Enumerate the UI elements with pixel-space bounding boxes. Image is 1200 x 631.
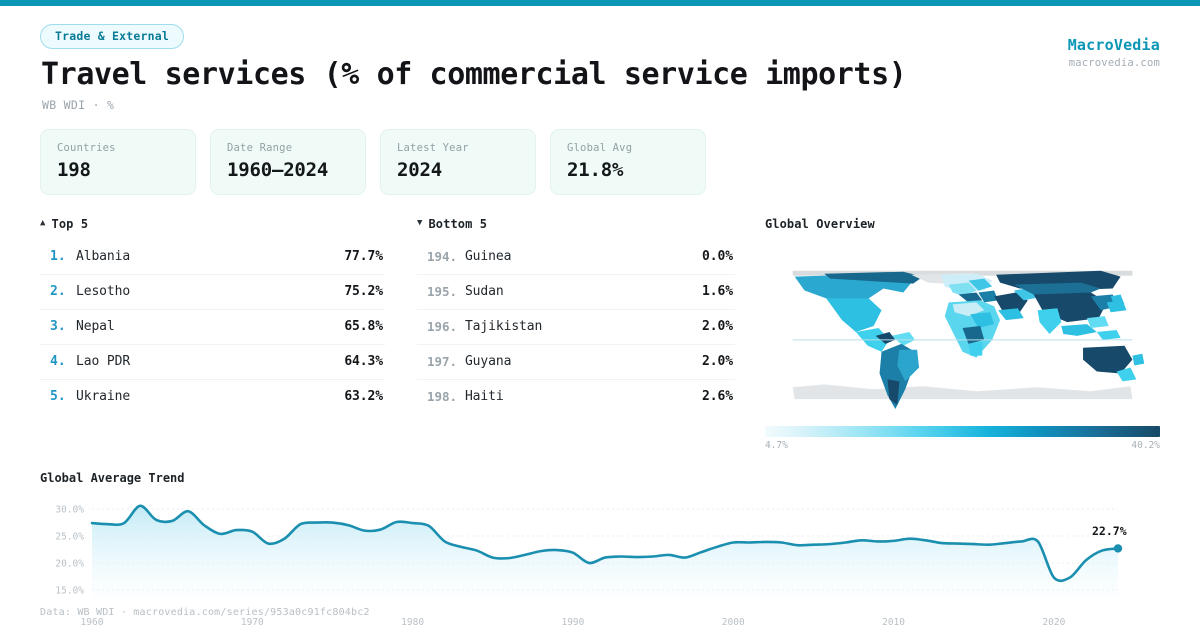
table-row[interactable]: 4. Lao PDR 64.3% <box>40 345 385 380</box>
country-name: Tajikistan <box>465 319 702 334</box>
brand-url: macrovedia.com <box>1068 57 1160 69</box>
map-colorbar <box>765 426 1160 437</box>
x-tick-label: 2000 <box>722 617 745 628</box>
country-name: Guyana <box>465 354 702 369</box>
stat-card-countries: Countries 198 <box>40 129 196 195</box>
bottom5-heading-label: Bottom 5 <box>428 217 487 231</box>
country-value: 64.3% <box>344 354 383 369</box>
x-tick-label: 2020 <box>1042 617 1065 628</box>
page-header: Trade & External Travel services (% of c… <box>40 6 1160 112</box>
page-subtitle: WB WDI · % <box>42 98 1160 112</box>
page-title: Travel services (% of commercial service… <box>41 57 1160 92</box>
triangle-down-icon: ▼ <box>417 219 423 228</box>
svg-text:20.0%: 20.0% <box>55 558 84 569</box>
trend-chart-svg: 30.0%25.0%20.0%15.0% <box>40 491 1160 616</box>
rank-number: 5. <box>50 389 76 404</box>
colorbar-min-label: 4.7% <box>765 440 788 451</box>
country-value: 2.0% <box>702 319 733 334</box>
trend-chart[interactable]: 30.0%25.0%20.0%15.0% 22.7% <box>40 491 1160 616</box>
table-row[interactable]: 3. Nepal 65.8% <box>40 310 385 345</box>
rank-number: 195. <box>427 284 465 299</box>
x-tick-label: 1960 <box>81 617 104 628</box>
table-row[interactable]: 197. Guyana 2.0% <box>417 345 735 380</box>
rankings-and-map-row: ▲ Top 5 1. Albania 77.7% 2. Lesotho 75.2… <box>40 217 1160 451</box>
top5-heading-label: Top 5 <box>52 217 89 231</box>
world-map-svg <box>765 240 1160 420</box>
stat-value: 2024 <box>397 159 519 181</box>
rank-number: 198. <box>427 389 465 404</box>
stat-value: 1960–2024 <box>227 159 349 181</box>
country-name: Lao PDR <box>76 354 344 369</box>
top5-panel: ▲ Top 5 1. Albania 77.7% 2. Lesotho 75.2… <box>40 217 385 451</box>
rank-number: 4. <box>50 354 76 369</box>
country-value: 0.0% <box>702 249 733 264</box>
stat-value: 198 <box>57 159 179 181</box>
table-row[interactable]: 196. Tajikistan 2.0% <box>417 310 735 345</box>
table-row[interactable]: 198. Haiti 2.6% <box>417 380 735 414</box>
svg-text:25.0%: 25.0% <box>55 532 84 543</box>
country-value: 1.6% <box>702 284 733 299</box>
country-value: 77.7% <box>344 249 383 264</box>
rank-number: 197. <box>427 354 465 369</box>
map-heading: Global Overview <box>765 217 1160 231</box>
global-overview-panel: Global Overview <box>765 217 1160 451</box>
table-row[interactable]: 1. Albania 77.7% <box>40 240 385 275</box>
stat-label: Latest Year <box>397 142 519 154</box>
category-badge: Trade & External <box>40 24 184 49</box>
country-value: 2.6% <box>702 389 733 404</box>
country-name: Ukraine <box>76 389 344 404</box>
brand-name: MacroVedia <box>1068 36 1160 54</box>
rank-number: 1. <box>50 249 76 264</box>
stat-card-global-avg: Global Avg 21.8% <box>550 129 706 195</box>
country-value: 65.8% <box>344 319 383 334</box>
page-container: Trade & External Travel services (% of c… <box>0 6 1200 630</box>
table-row[interactable]: 5. Ukraine 63.2% <box>40 380 385 414</box>
rank-number: 194. <box>427 249 465 264</box>
svg-text:30.0%: 30.0% <box>55 505 84 516</box>
stat-label: Global Avg <box>567 142 689 154</box>
bottom5-panel: ▼ Bottom 5 194. Guinea 0.0% 195. Sudan 1… <box>417 217 735 451</box>
rank-number: 2. <box>50 284 76 299</box>
country-value: 2.0% <box>702 354 733 369</box>
triangle-up-icon: ▲ <box>40 219 46 228</box>
x-tick-label: 1970 <box>241 617 264 628</box>
stat-label: Date Range <box>227 142 349 154</box>
colorbar-max-label: 40.2% <box>1131 440 1160 451</box>
x-tick-label: 1990 <box>561 617 584 628</box>
bottom5-heading: ▼ Bottom 5 <box>417 217 735 231</box>
country-name: Sudan <box>465 284 702 299</box>
stat-label: Countries <box>57 142 179 154</box>
country-name: Lesotho <box>76 284 344 299</box>
stat-card-date-range: Date Range 1960–2024 <box>210 129 366 195</box>
country-name: Guinea <box>465 249 702 264</box>
rank-number: 196. <box>427 319 465 334</box>
brand-block: MacroVedia macrovedia.com <box>1068 36 1160 69</box>
country-value: 63.2% <box>344 389 383 404</box>
svg-text:15.0%: 15.0% <box>55 585 84 596</box>
table-row[interactable]: 2. Lesotho 75.2% <box>40 275 385 310</box>
rank-number: 3. <box>50 319 76 334</box>
country-name: Albania <box>76 249 344 264</box>
map-heading-label: Global Overview <box>765 217 875 231</box>
stat-value: 21.8% <box>567 159 689 181</box>
trend-x-axis-labels: 1960197019801990200020102020 <box>40 617 1160 631</box>
trend-end-value-label: 22.7% <box>1092 524 1127 538</box>
country-name: Nepal <box>76 319 344 334</box>
world-choropleth-map[interactable] <box>765 240 1160 420</box>
stat-card-latest-year: Latest Year 2024 <box>380 129 536 195</box>
country-value: 75.2% <box>344 284 383 299</box>
table-row[interactable]: 195. Sudan 1.6% <box>417 275 735 310</box>
stat-cards: Countries 198 Date Range 1960–2024 Lates… <box>40 129 1160 195</box>
x-tick-label: 1980 <box>401 617 424 628</box>
table-row[interactable]: 194. Guinea 0.0% <box>417 240 735 275</box>
footer-source: Data: WB WDI · macrovedia.com/series/953… <box>40 607 370 618</box>
x-tick-label: 2010 <box>882 617 905 628</box>
country-name: Haiti <box>465 389 702 404</box>
trend-heading: Global Average Trend <box>40 471 1160 485</box>
map-colorbar-labels: 4.7% 40.2% <box>765 440 1160 451</box>
top5-heading: ▲ Top 5 <box>40 217 385 231</box>
